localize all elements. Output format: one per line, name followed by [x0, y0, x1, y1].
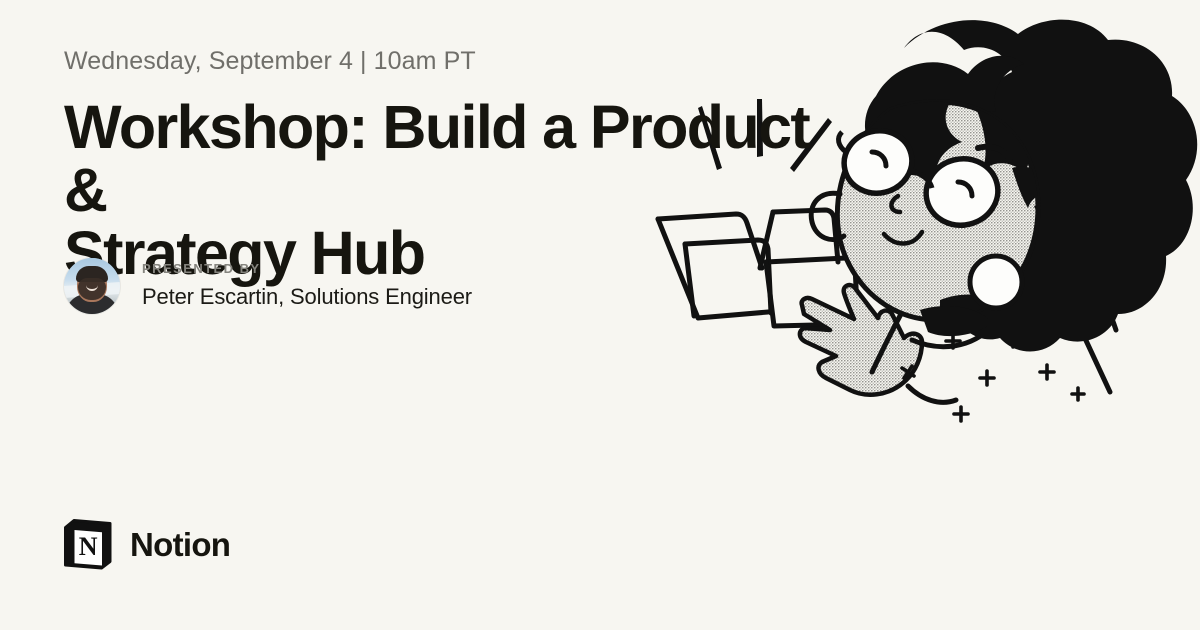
- event-promo-card: Wednesday, September 4 | 10am PT Worksho…: [0, 0, 1200, 630]
- event-date-time: Wednesday, September 4 | 10am PT: [64, 46, 884, 76]
- avatar: [64, 258, 120, 314]
- brand-name: Notion: [130, 528, 230, 561]
- page-title: Workshop: Build a Product &Strategy Hub: [64, 96, 864, 284]
- presented-by-label: PRESENTED BY: [142, 262, 472, 275]
- presenter-name: Peter Escartin, Solutions Engineer: [142, 284, 472, 310]
- presenter-row: PRESENTED BY Peter Escartin, Solutions E…: [64, 258, 472, 314]
- title-line-1: Workshop: Build a Product &: [64, 93, 809, 224]
- notion-logo-icon: N: [60, 516, 116, 572]
- presenter-text: PRESENTED BY Peter Escartin, Solutions E…: [142, 262, 472, 310]
- svg-text:N: N: [79, 532, 98, 561]
- event-text-block: Wednesday, September 4 | 10am PT Worksho…: [64, 46, 884, 284]
- brand-lockup: N Notion: [60, 516, 230, 572]
